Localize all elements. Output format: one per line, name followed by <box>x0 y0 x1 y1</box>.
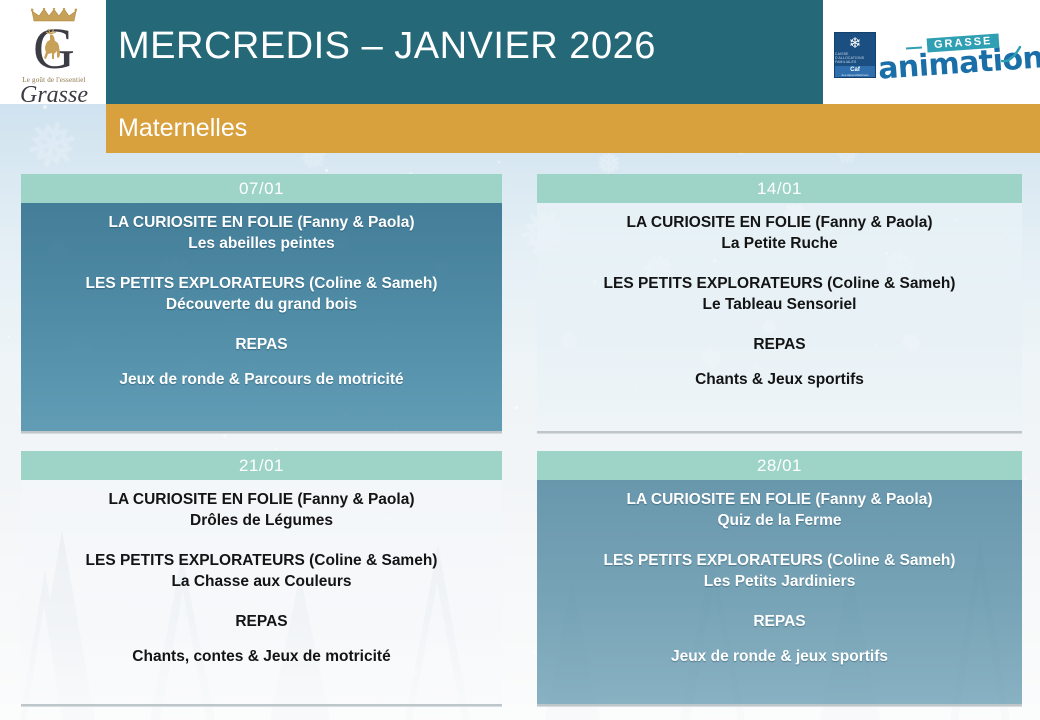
activity-title: LES PETITS EXPLORATEURS (Coline & Sameh) <box>537 273 1022 294</box>
activity-detail: Quiz de la Ferme <box>537 510 1022 531</box>
activity-block: REPAS <box>21 334 502 355</box>
activity-title: LA CURIOSITE EN FOLIE (Fanny & Paola) <box>21 489 502 510</box>
activity-detail: Les abeilles peintes <box>21 233 502 254</box>
slide-root: ❅❅❅❅❅❅❅❅❅❅❅❅❅❅❅❅❅❅❅❅❅❅❅❅❅❅❅❅❅❅ <box>0 0 1040 720</box>
schedule-card[interactable]: 14/01LA CURIOSITE EN FOLIE (Fanny & Paol… <box>537 174 1022 434</box>
activity-block: LA CURIOSITE EN FOLIE (Fanny & Paola)Les… <box>21 212 502 254</box>
card-bottom-rule-shadow <box>537 706 1022 707</box>
card-content: LA CURIOSITE EN FOLIE (Fanny & Paola)Qui… <box>537 480 1022 704</box>
activity-block: Jeux de ronde & Parcours de motricité <box>21 369 502 390</box>
activity-block: LES PETITS EXPLORATEURS (Coline & Sameh)… <box>21 273 502 315</box>
card-date-header: 07/01 <box>21 174 502 203</box>
activity-detail: Le Tableau Sensoriel <box>537 294 1022 315</box>
card-date: 21/01 <box>239 456 284 476</box>
activity-block: LES PETITS EXPLORATEURS (Coline & Sameh)… <box>21 550 502 592</box>
activity-block: LA CURIOSITE EN FOLIE (Fanny & Paola)La … <box>537 212 1022 254</box>
activity-block: Jeux de ronde & jeux sportifs <box>537 646 1022 667</box>
activity-title: LES PETITS EXPLORATEURS (Coline & Sameh) <box>537 550 1022 571</box>
activity-title: LA CURIOSITE EN FOLIE (Fanny & Paola) <box>21 212 502 233</box>
section-bar: Maternelles <box>106 104 1040 153</box>
partner-logo-plate: ❄ CAISSE D'ALLOCATIONS FAMILIALES Caf de… <box>823 0 1040 104</box>
activity-block: LES PETITS EXPLORATEURS (Coline & Sameh)… <box>537 550 1022 592</box>
activity-block: REPAS <box>21 611 502 632</box>
schedule-card[interactable]: 21/01LA CURIOSITE EN FOLIE (Fanny & Paol… <box>21 451 502 707</box>
city-logo-plate: G Le goût de l'essentiel Grasse <box>0 0 106 104</box>
activity-detail: La Petite Ruche <box>537 233 1022 254</box>
card-bottom-rule-shadow <box>21 433 502 434</box>
card-body: LA CURIOSITE EN FOLIE (Fanny & Paola)Qui… <box>537 480 1022 704</box>
deer-icon <box>37 28 71 64</box>
activity-block: Chants, contes & Jeux de motricité <box>21 646 502 667</box>
activity-block: Chants & Jeux sportifs <box>537 369 1022 390</box>
schedule-card[interactable]: 07/01LA CURIOSITE EN FOLIE (Fanny & Paol… <box>21 174 502 434</box>
schedule-card[interactable]: 28/01LA CURIOSITE EN FOLIE (Fanny & Paol… <box>537 451 1022 707</box>
activity-detail: La Chasse aux Couleurs <box>21 571 502 592</box>
caf-sublabel: des Alpes-Maritimes <box>841 73 868 77</box>
card-body: LA CURIOSITE EN FOLIE (Fanny & Paola)Drô… <box>21 480 502 704</box>
snowflake-icon: ❄ <box>849 36 862 51</box>
title-bar: MERCREDIS – JANVIER 2026 <box>106 0 823 104</box>
activity-title: Jeux de ronde & Parcours de motricité <box>21 369 502 390</box>
caf-badge-line1: CAISSE D'ALLOCATIONS FAMILIALES <box>835 52 875 64</box>
card-content: LA CURIOSITE EN FOLIE (Fanny & Paola)Drô… <box>21 480 502 704</box>
activity-detail: Drôles de Légumes <box>21 510 502 531</box>
card-date: 07/01 <box>239 179 284 199</box>
card-date-header: 28/01 <box>537 451 1022 480</box>
card-date: 14/01 <box>757 179 802 199</box>
activity-title: REPAS <box>21 611 502 632</box>
logo-wordmark: Grasse <box>12 82 96 109</box>
activity-title: Jeux de ronde & jeux sportifs <box>537 646 1022 667</box>
activity-detail: Les Petits Jardiniers <box>537 571 1022 592</box>
card-date: 28/01 <box>757 456 802 476</box>
card-body: LA CURIOSITE EN FOLIE (Fanny & Paola)La … <box>537 203 1022 431</box>
card-date-header: 21/01 <box>21 451 502 480</box>
activity-title: LES PETITS EXPLORATEURS (Coline & Sameh) <box>21 273 502 294</box>
card-content: LA CURIOSITE EN FOLIE (Fanny & Paola)Les… <box>21 203 502 431</box>
grasse-city-logo: G Le goût de l'essentiel Grasse <box>12 6 96 100</box>
caf-badge: ❄ CAISSE D'ALLOCATIONS FAMILIALES Caf de… <box>834 32 876 78</box>
section-title: Maternelles <box>118 114 247 143</box>
page-title: MERCREDIS – JANVIER 2026 <box>118 25 656 68</box>
swoosh-icon <box>1001 45 1023 63</box>
activity-block: LA CURIOSITE EN FOLIE (Fanny & Paola)Drô… <box>21 489 502 531</box>
card-bottom-rule-shadow <box>21 706 502 707</box>
activity-title: REPAS <box>21 334 502 355</box>
card-content: LA CURIOSITE EN FOLIE (Fanny & Paola)La … <box>537 203 1022 431</box>
activity-title: LES PETITS EXPLORATEURS (Coline & Sameh) <box>21 550 502 571</box>
activity-block: REPAS <box>537 334 1022 355</box>
activity-block: REPAS <box>537 611 1022 632</box>
activity-title: REPAS <box>537 611 1022 632</box>
activity-detail: Découverte du grand bois <box>21 294 502 315</box>
activity-title: Chants & Jeux sportifs <box>537 369 1022 390</box>
activity-title: LA CURIOSITE EN FOLIE (Fanny & Paola) <box>537 212 1022 233</box>
card-bottom-rule-shadow <box>537 433 1022 434</box>
caf-strip: Caf des Alpes-Maritimes <box>835 66 875 77</box>
card-date-header: 14/01 <box>537 174 1022 203</box>
activity-title: Chants, contes & Jeux de motricité <box>21 646 502 667</box>
activity-block: LES PETITS EXPLORATEURS (Coline & Sameh)… <box>537 273 1022 315</box>
activity-title: LA CURIOSITE EN FOLIE (Fanny & Paola) <box>537 489 1022 510</box>
activity-title: REPAS <box>537 334 1022 355</box>
card-body: LA CURIOSITE EN FOLIE (Fanny & Paola)Les… <box>21 203 502 431</box>
activity-block: LA CURIOSITE EN FOLIE (Fanny & Paola)Qui… <box>537 489 1022 531</box>
